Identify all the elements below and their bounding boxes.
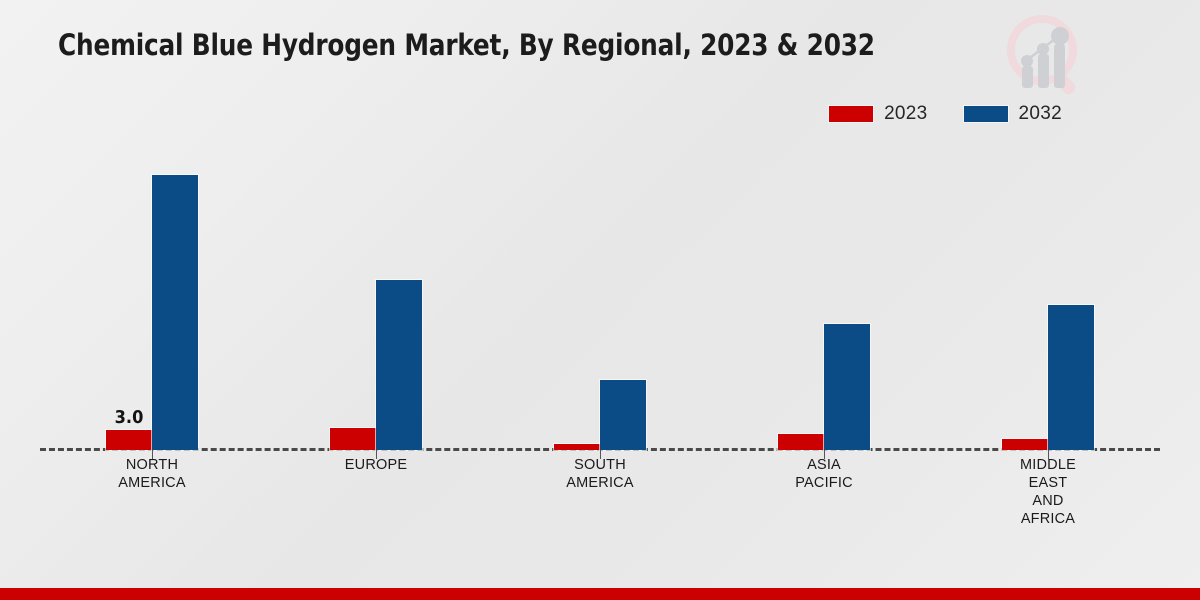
legend-swatch-2023 <box>829 106 873 122</box>
bar-2032[interactable] <box>1048 305 1094 450</box>
chart-legend: 2023 2032 <box>829 103 1062 125</box>
chart-figure: Chemical Blue Hydrogen Market, By Region… <box>0 0 1200 600</box>
bar-2032[interactable] <box>824 324 870 450</box>
bar-group <box>488 150 712 450</box>
legend-swatch-2032 <box>964 106 1008 122</box>
bar-2023[interactable] <box>330 428 376 450</box>
plot-area: 3.0 <box>40 150 1160 450</box>
x-axis-category-label: SOUTH AMERICA <box>500 456 700 492</box>
x-axis-category-label: ASIA PACIFIC <box>724 456 924 492</box>
magnifier-bar-chart-logo-icon <box>998 8 1094 104</box>
bar-group <box>264 150 488 450</box>
legend-item-2032[interactable]: 2032 <box>964 103 1062 125</box>
bar-group <box>712 150 936 450</box>
bar-2032[interactable] <box>152 175 198 450</box>
footer-accent-bar <box>0 588 1200 600</box>
bar-2032[interactable] <box>376 280 422 450</box>
legend-item-2023[interactable]: 2023 <box>829 103 927 125</box>
x-axis-category-label: EUROPE <box>276 456 476 474</box>
bar-2032[interactable] <box>600 380 646 450</box>
bar-group <box>936 150 1160 450</box>
chart-title: Chemical Blue Hydrogen Market, By Region… <box>58 28 875 62</box>
legend-label-2023: 2023 <box>884 103 927 125</box>
legend-label-2032: 2032 <box>1019 103 1062 125</box>
bar-2023[interactable] <box>554 444 600 450</box>
x-axis-category-label: MIDDLE EAST AND AFRICA <box>948 456 1148 528</box>
x-axis-category-label: NORTH AMERICA <box>52 456 252 492</box>
bar-2023[interactable] <box>778 434 824 450</box>
bar-group: 3.0 <box>40 150 264 450</box>
bar-2023[interactable] <box>1002 439 1048 450</box>
bar-value-label: 3.0 <box>115 407 144 428</box>
bar-2023[interactable]: 3.0 <box>106 430 152 450</box>
